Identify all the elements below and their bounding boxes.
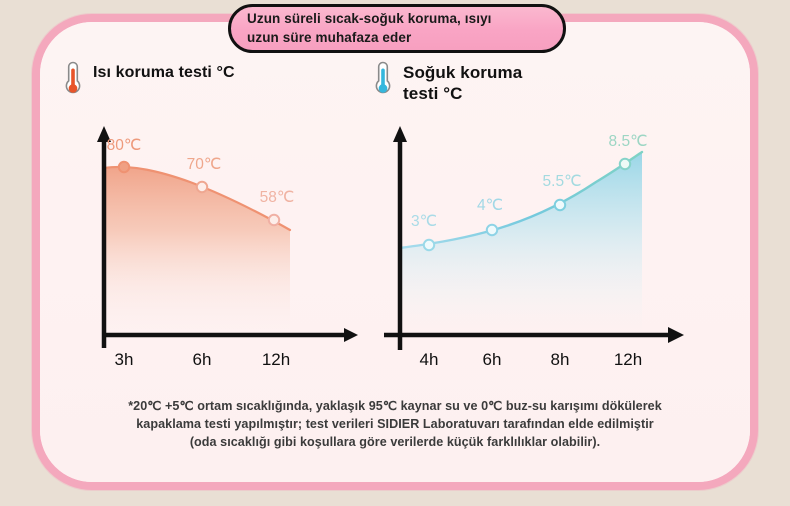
heat-x-axis-arrow (344, 328, 358, 342)
heat-chart-title: Isı koruma testi °C (93, 62, 235, 83)
cold-y-axis-arrow (393, 126, 407, 142)
cold-point-marker (487, 225, 497, 235)
page-background: Uzun süreli sıcak-soğuk koruma, ısıyı uz… (0, 0, 790, 506)
cold-data-label: 5.5℃ (543, 172, 582, 191)
cold-point-marker (555, 200, 565, 210)
heat-x-label: 12h (262, 350, 290, 370)
thermometer-cold-icon (372, 60, 394, 103)
heat-x-label: 6h (193, 350, 212, 370)
thermometer-hot-icon (62, 60, 84, 103)
cold-x-axis-labels: 4h 6h 8h 12h (372, 350, 702, 376)
cold-data-label: 3℃ (411, 212, 437, 231)
heat-x-label: 3h (115, 350, 134, 370)
cold-chart-svg (372, 120, 702, 370)
heat-x-axis-labels: 3h 6h 12h (62, 350, 362, 376)
headline-banner-text: Uzun süreli sıcak-soğuk koruma, ısıyı uz… (247, 10, 492, 46)
heat-point-marker (269, 215, 279, 225)
cold-retention-chart: Soğuk koruma testi °C (372, 62, 702, 392)
cold-point-marker (620, 159, 630, 169)
cold-x-label: 8h (551, 350, 570, 370)
heat-retention-chart: Isı koruma testi °C (62, 62, 362, 392)
cold-x-label: 4h (420, 350, 439, 370)
cold-chart-title: Soğuk koruma testi °C (403, 62, 522, 104)
headline-banner: Uzun süreli sıcak-soğuk koruma, ısıyı uz… (228, 4, 566, 53)
cold-data-label: 4℃ (477, 196, 503, 215)
cold-x-label: 6h (483, 350, 502, 370)
cold-x-axis-arrow (668, 327, 684, 343)
cold-point-marker (424, 240, 434, 250)
heat-point-marker (119, 162, 129, 172)
footnote-text: *20℃ +5℃ ortam sıcaklığında, yaklaşık 95… (48, 398, 742, 452)
cold-chart-header: Soğuk koruma testi °C (372, 62, 702, 120)
cold-data-label: 8.5℃ (609, 132, 648, 151)
cold-x-label: 12h (614, 350, 642, 370)
heat-data-label: 58℃ (260, 188, 295, 207)
heat-data-label: 70℃ (187, 155, 222, 174)
heat-chart-plot: 80℃ 70℃ 58℃ 3h 6h 12h (62, 120, 362, 370)
heat-point-marker (197, 182, 207, 192)
heat-data-label: 80℃ (107, 136, 142, 155)
heat-chart-header: Isı koruma testi °C (62, 62, 362, 120)
cold-chart-plot: 3℃ 4℃ 5.5℃ 8.5℃ 4h 6h 8h 12h (372, 120, 702, 370)
